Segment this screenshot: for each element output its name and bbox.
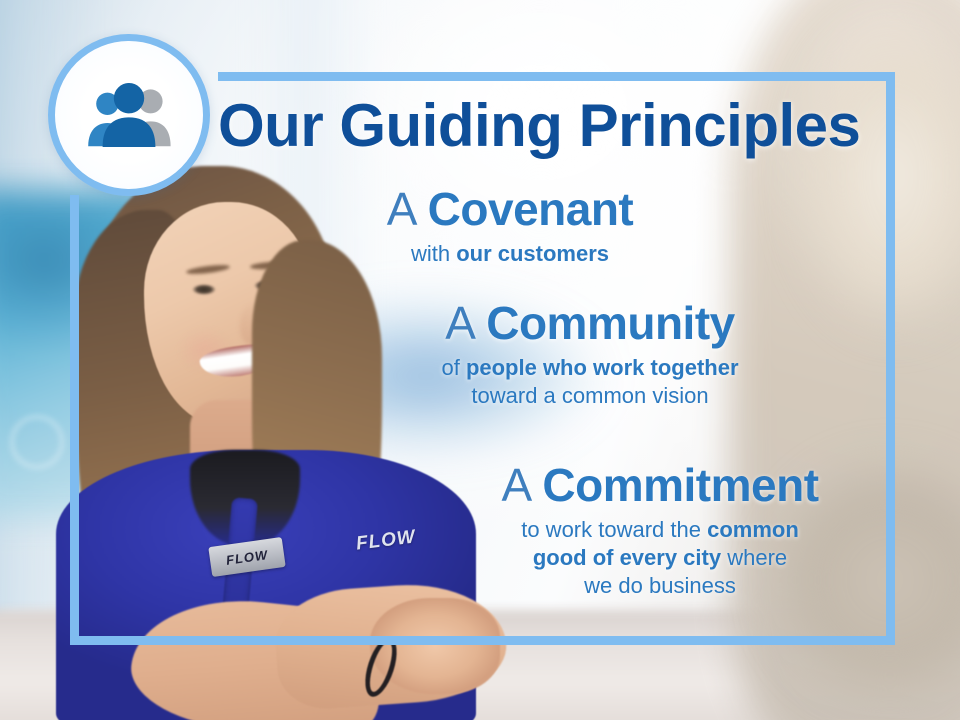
text-line: to work toward the common — [430, 516, 890, 544]
text-line: we do business — [430, 572, 890, 600]
principle-community-heading: A Community — [360, 300, 820, 348]
principle-covenant-word: Covenant — [428, 183, 634, 235]
principle-covenant-sub: with our customers — [300, 240, 720, 268]
blurred-customer-hair — [790, 10, 960, 340]
eye-left — [192, 284, 216, 295]
name-badge-text: FLOW — [225, 547, 269, 568]
promo-graphic: FLOW FLOW Our Guiding P — [0, 0, 960, 720]
text-line: of people who work together — [360, 354, 820, 382]
principle-community-lead: A — [445, 297, 486, 349]
principle-commitment-heading: A Commitment — [430, 462, 890, 510]
principle-community-sub: of people who work togethertoward a comm… — [360, 354, 820, 410]
principle-covenant-lead: A — [387, 183, 428, 235]
principle-commitment-word: Commitment — [542, 459, 818, 511]
principle-commitment-lead: A — [501, 459, 542, 511]
principle-commitment: A Commitment to work toward the commongo… — [430, 462, 890, 600]
text-line: toward a common vision — [360, 382, 820, 410]
principle-covenant: A Covenant with our customers — [300, 186, 720, 268]
people-group-icon — [81, 80, 177, 150]
principle-community-word: Community — [486, 297, 735, 349]
principle-community: A Community of people who work togethert… — [360, 300, 820, 410]
text-line: with our customers — [300, 240, 720, 268]
page-title: Our Guiding Principles — [218, 96, 878, 156]
text-line: good of every city where — [430, 544, 890, 572]
people-badge — [48, 34, 210, 196]
principle-covenant-heading: A Covenant — [300, 186, 720, 234]
principle-commitment-sub: to work toward the commongood of every c… — [430, 516, 890, 600]
